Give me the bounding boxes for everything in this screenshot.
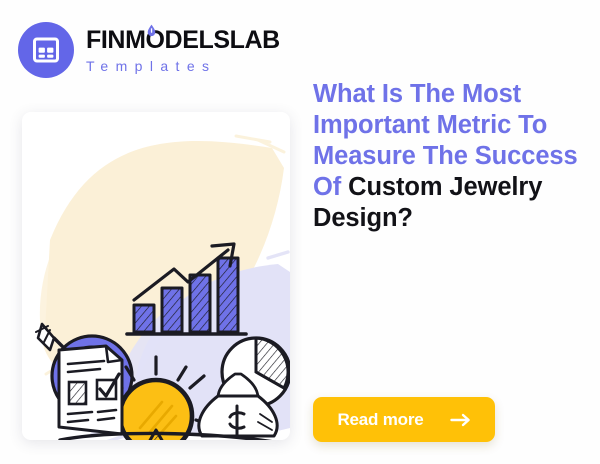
page-title: What Is The Most Important Metric To Mea…: [313, 79, 585, 234]
banner-root: FINMODELSLAB Templates: [0, 0, 600, 464]
headline-topic: Custom Jewelry Design?: [313, 173, 542, 232]
brand-name-label: FINMODELSLAB: [86, 26, 280, 54]
brand-logo[interactable]: FINMODELSLAB Templates: [18, 22, 280, 78]
brand-text-block: FINMODELSLAB Templates: [86, 28, 280, 73]
brand-name: FINMODELSLAB: [86, 28, 280, 53]
business-metrics-illustration: [22, 112, 290, 440]
arrow-right-icon: [450, 413, 471, 427]
illustration-card: [22, 112, 290, 440]
read-more-label: Read more: [337, 410, 423, 430]
brand-subtitle: Templates: [86, 59, 280, 73]
grid-icon: [18, 22, 74, 78]
document-checklist-icon: [59, 346, 122, 434]
read-more-button[interactable]: Read more: [313, 397, 495, 442]
